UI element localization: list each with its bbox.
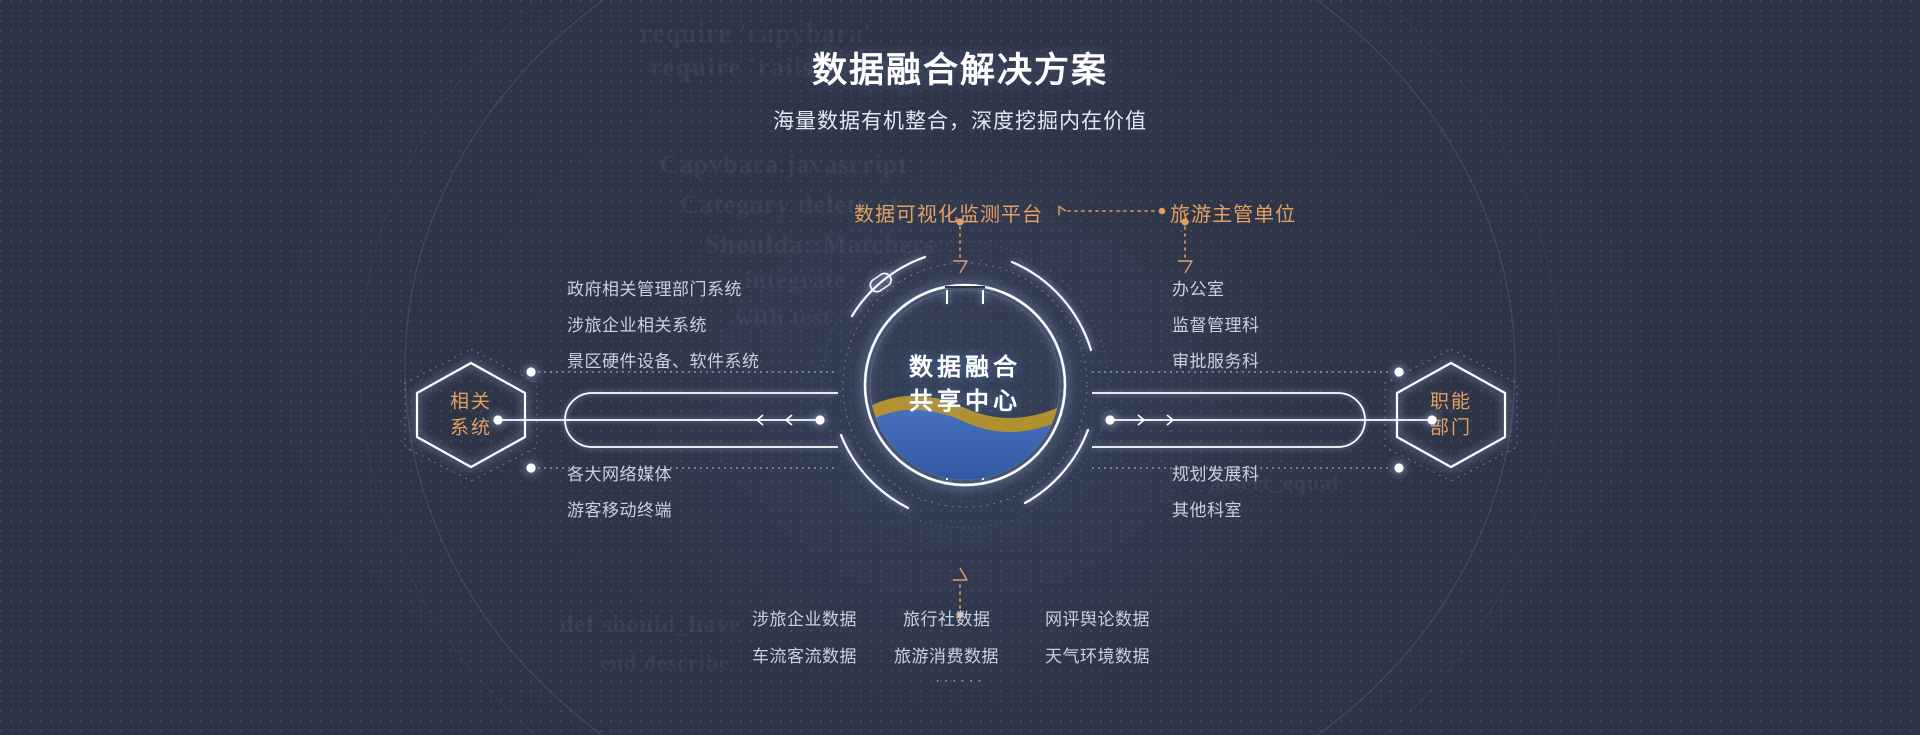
bottom-row1-item-1[interactable]: 旅行社数据 [903, 605, 991, 630]
left-upper-item-0[interactable]: 政府相关管理部门系统 [567, 275, 742, 300]
infographic-canvas: require 'capybara' require 'rails' Capyb… [0, 0, 1920, 735]
bottom-row2-item-0[interactable]: 车流客流数据 [752, 642, 857, 667]
left-upper-item-2[interactable]: 景区硬件设备、软件系统 [567, 347, 760, 372]
bottom-row2-item-2[interactable]: 天气环境数据 [1045, 642, 1150, 667]
code-ghost-line: def should_have [560, 612, 741, 639]
left-lower-item-0[interactable]: 各大网络媒体 [567, 460, 672, 485]
bottom-row1-item-2[interactable]: 网评舆论数据 [1045, 605, 1150, 630]
right-lower-item-0[interactable]: 规划发展科 [1172, 460, 1260, 485]
center-rings [820, 240, 1110, 530]
right-lower-item-1[interactable]: 其他科室 [1172, 496, 1242, 521]
code-ghost-line: with test [735, 305, 831, 332]
left-upper-item-1[interactable]: 涉旅企业相关系统 [567, 311, 707, 336]
page-subtitle: 海量数据有机整合，深度挖掘内在价值 [0, 105, 1920, 135]
right-upper-item-1[interactable]: 监督管理科 [1172, 311, 1260, 336]
page-title: 数据融合解决方案 [0, 42, 1920, 93]
left-lower-item-1[interactable]: 游客移动终端 [567, 496, 672, 521]
authority-to-departments-connector [1165, 218, 1205, 280]
right-upper-item-0[interactable]: 办公室 [1172, 275, 1225, 300]
bottom-row1-item-0[interactable]: 涉旅企业数据 [752, 605, 857, 630]
bottom-row2-item-1[interactable]: 旅游消费数据 [894, 642, 999, 667]
top-flow-arrow [1050, 200, 1170, 222]
center-hub: 数据融合 共享中心 [820, 240, 1110, 530]
code-ghost-line: Capybara.javascript [660, 150, 908, 180]
bottom-ellipsis: ······ [0, 672, 1920, 690]
right-upper-item-2[interactable]: 审批服务科 [1172, 347, 1260, 372]
